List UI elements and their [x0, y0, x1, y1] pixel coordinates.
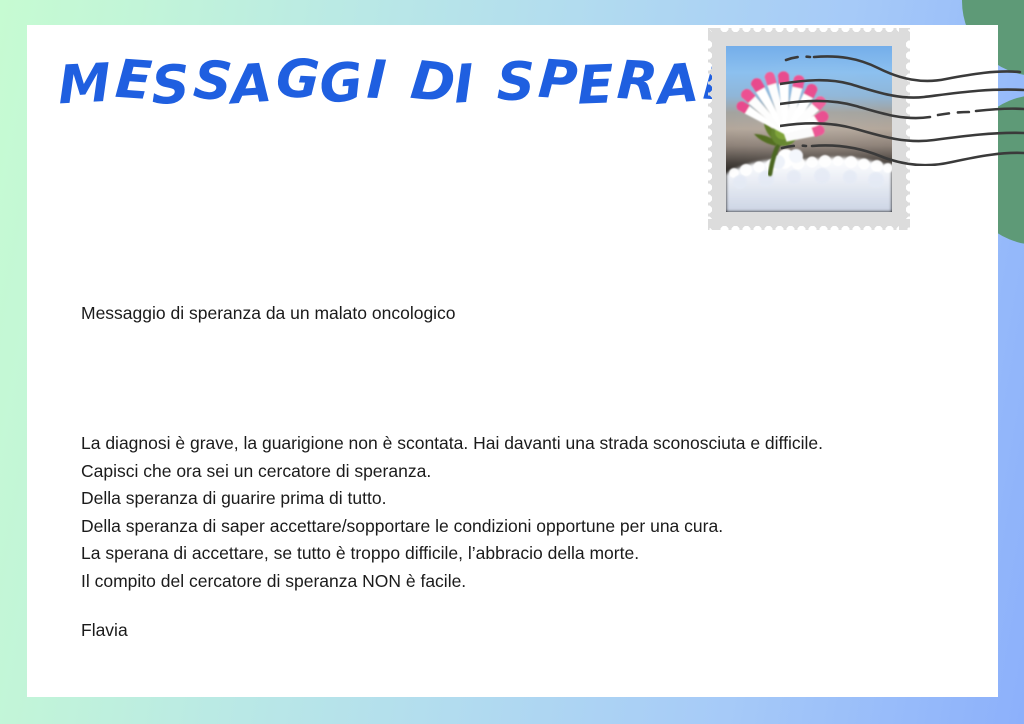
title-char: I [452, 53, 477, 116]
signature-text: Flavia [81, 617, 128, 643]
title-char: P [536, 49, 581, 114]
title-char [388, 52, 408, 114]
title-char: S [150, 54, 192, 117]
stamp-photo-daisy-in-snow [726, 46, 892, 212]
title-char: A [229, 53, 276, 118]
title-char: M [57, 53, 115, 118]
message-line: La sperana di accettare, se tutto è trop… [81, 540, 823, 568]
postcard-slide: MESSAGGI DI SPERANZA [0, 0, 1024, 724]
title-char: I [366, 50, 390, 113]
postcard-card: MESSAGGI DI SPERANZA [27, 25, 998, 697]
postage-stamp [708, 28, 910, 230]
title-char: S [497, 52, 537, 114]
title-char [476, 52, 496, 114]
message-line: Della speranza di guarire prima di tutto… [81, 485, 823, 513]
page-title: MESSAGGI DI SPERANZA [59, 52, 699, 124]
message-line: La diagnosi è grave, la guarigione non è… [81, 430, 823, 458]
message-line: Della speranza di saper accettare/soppor… [81, 513, 823, 541]
title-char: A [655, 52, 703, 118]
title-char: G [317, 51, 368, 117]
title-char: E [113, 49, 155, 114]
message-line: Capisci che ora sei un cercatore di sper… [81, 458, 823, 486]
subtitle-text: Messaggio di speranza da un malato oncol… [81, 300, 456, 326]
title-char: E [576, 54, 616, 117]
title-char: D [407, 50, 459, 116]
message-line: Il compito del cercatore di speranza NON… [81, 568, 823, 596]
message-body: La diagnosi è grave, la guarigione non è… [81, 430, 823, 595]
